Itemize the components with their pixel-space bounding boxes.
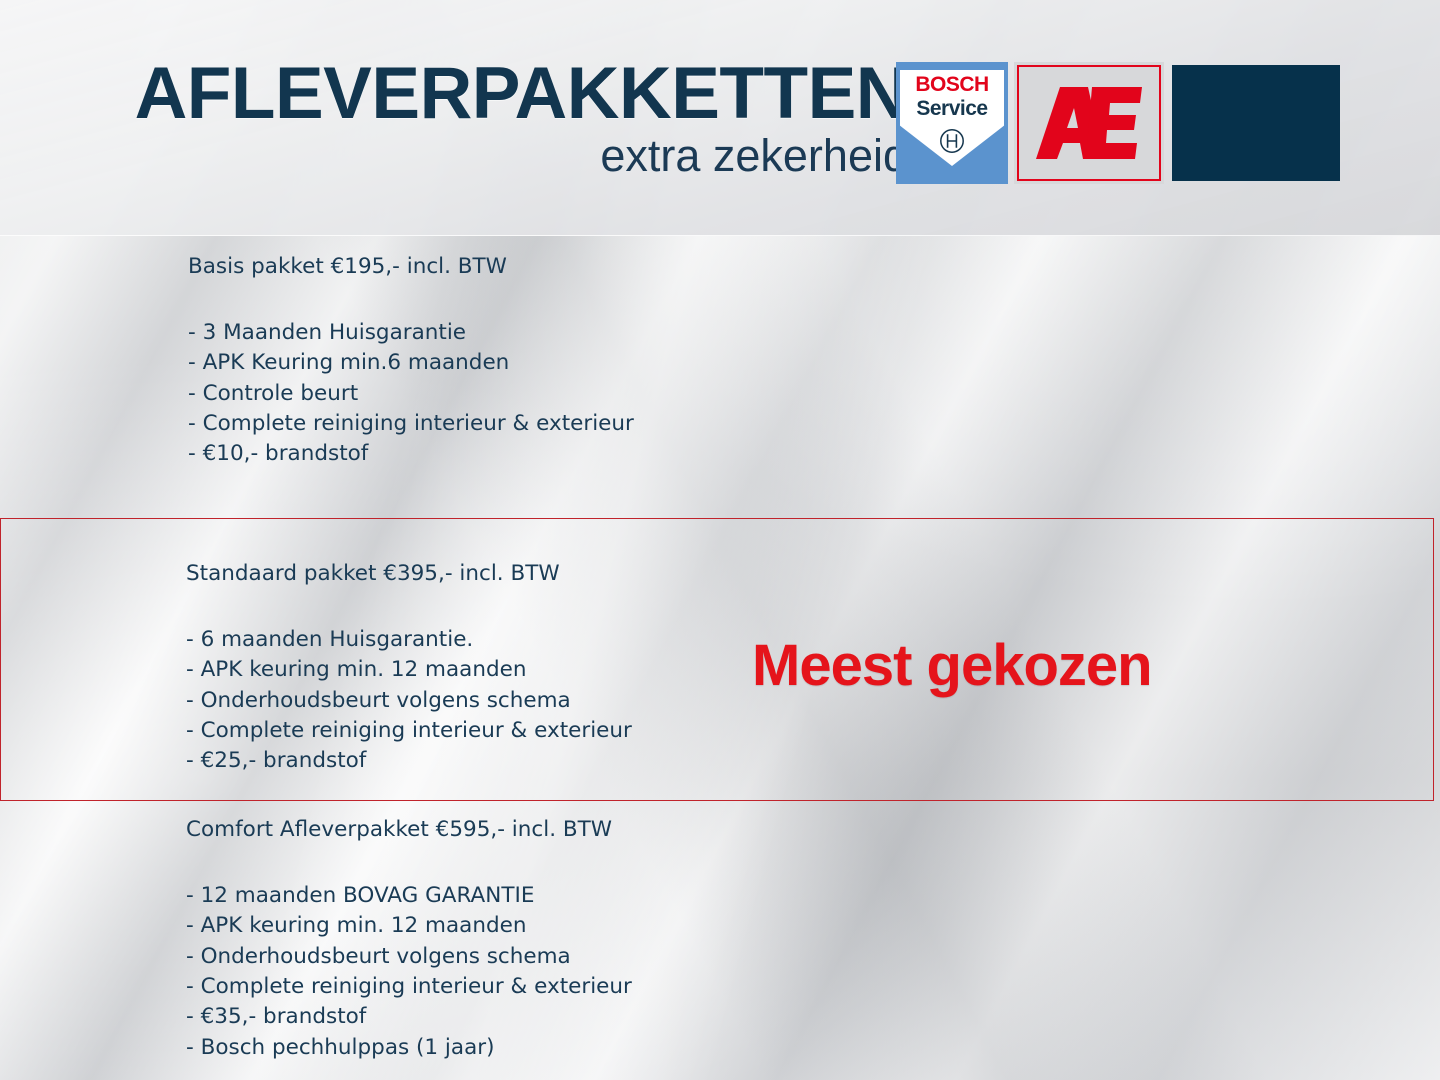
list-item: - Complete reiniging interieur & exterie… <box>186 716 632 746</box>
package-standaard: Standaard pakket €395,- incl. BTW - 6 ma… <box>186 560 632 777</box>
package-title: Comfort Afleverpakket €595,- incl. BTW <box>186 816 632 843</box>
package-title: Basis pakket €195,- incl. BTW <box>188 253 634 280</box>
list-item: - Bosch pechhulppas (1 jaar) <box>186 1033 632 1063</box>
list-item: - 12 maanden BOVAG GARANTIE <box>186 881 632 911</box>
page-subtitle: extra zekerheid <box>118 132 908 179</box>
package-feature-list: - 3 Maanden Huisgarantie - APK Keuring m… <box>188 318 634 470</box>
package-feature-list: - 6 maanden Huisgarantie. - APK keuring … <box>186 625 632 777</box>
list-item: - APK Keuring min.6 maanden <box>188 348 634 378</box>
list-item: - Complete reiniging interieur & exterie… <box>188 409 634 439</box>
logo-strip: BOSCH Service <box>896 62 1340 184</box>
bosch-service-logo: BOSCH Service <box>896 62 1008 184</box>
slide-background: AFLEVERPAKKETTEN extra zekerheid BOSCH S… <box>0 0 1440 1080</box>
list-item: - €25,- brandstof <box>186 746 632 776</box>
list-item: - Complete reiniging interieur & exterie… <box>186 972 632 1002</box>
bosch-armature-icon <box>939 128 965 154</box>
list-item: - €35,- brandstof <box>186 1002 632 1032</box>
highlight-label: Meest gekozen <box>752 632 1152 699</box>
list-item: - Controle beurt <box>188 379 634 409</box>
ae-logo <box>1014 62 1164 184</box>
list-item: - Onderhoudsbeurt volgens schema <box>186 686 632 716</box>
bosch-service-wordmark: Service <box>896 98 1008 119</box>
bosch-wordmark: BOSCH <box>896 74 1008 95</box>
list-item: - APK keuring min. 12 maanden <box>186 911 632 941</box>
package-basis: Basis pakket €195,- incl. BTW - 3 Maande… <box>188 253 634 470</box>
package-feature-list: - 12 maanden BOVAG GARANTIE - APK keurin… <box>186 881 632 1063</box>
package-comfort: Comfort Afleverpakket €595,- incl. BTW -… <box>186 816 632 1063</box>
list-item: - APK keuring min. 12 maanden <box>186 655 632 685</box>
package-title: Standaard pakket €395,- incl. BTW <box>186 560 632 587</box>
list-item: - 6 maanden Huisgarantie. <box>186 625 632 655</box>
header-band: AFLEVERPAKKETTEN extra zekerheid BOSCH S… <box>0 0 1440 236</box>
list-item: - 3 Maanden Huisgarantie <box>188 318 634 348</box>
navy-block-logo <box>1172 65 1340 181</box>
page-title: AFLEVERPAKKETTEN <box>118 58 908 130</box>
ae-monogram-icon <box>1030 83 1148 163</box>
list-item: - €10,- brandstof <box>188 439 634 469</box>
header-title-group: AFLEVERPAKKETTEN extra zekerheid <box>118 58 908 179</box>
list-item: - Onderhoudsbeurt volgens schema <box>186 942 632 972</box>
